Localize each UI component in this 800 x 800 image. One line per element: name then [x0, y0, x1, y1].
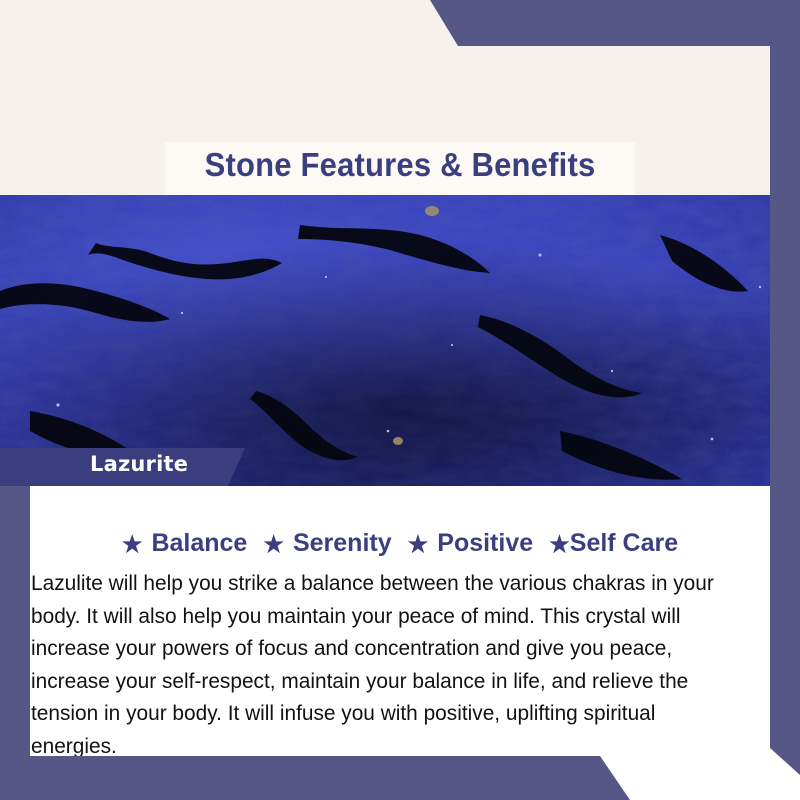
frame-accent-left — [0, 486, 30, 776]
stone-name-label: Lazurite — [90, 452, 188, 476]
keyword-serenity: Serenity — [293, 529, 392, 558]
keyword-list: ★Balance★Serenity★Positive★Self Care — [0, 529, 800, 558]
star-icon-3: ★ — [408, 531, 429, 558]
page-title: Stone Features & Benefits — [24, 146, 776, 184]
keyword-balance: Balance — [151, 529, 247, 558]
stone-photo-graphic — [0, 195, 800, 486]
star-icon-2: ★ — [263, 531, 284, 558]
stone-photo — [0, 195, 800, 486]
star-icon-1: ★ — [122, 531, 143, 558]
poster-canvas: BUDDHA STONES Stone Features & Benefits — [0, 0, 800, 800]
stone-description: Lazulite will help you strike a balance … — [31, 567, 731, 762]
frame-accent-right — [770, 0, 800, 775]
keyword-positive: Positive — [437, 529, 533, 558]
keyword-self-care: Self Care — [570, 529, 678, 558]
star-icon-4: ★ — [549, 531, 570, 558]
